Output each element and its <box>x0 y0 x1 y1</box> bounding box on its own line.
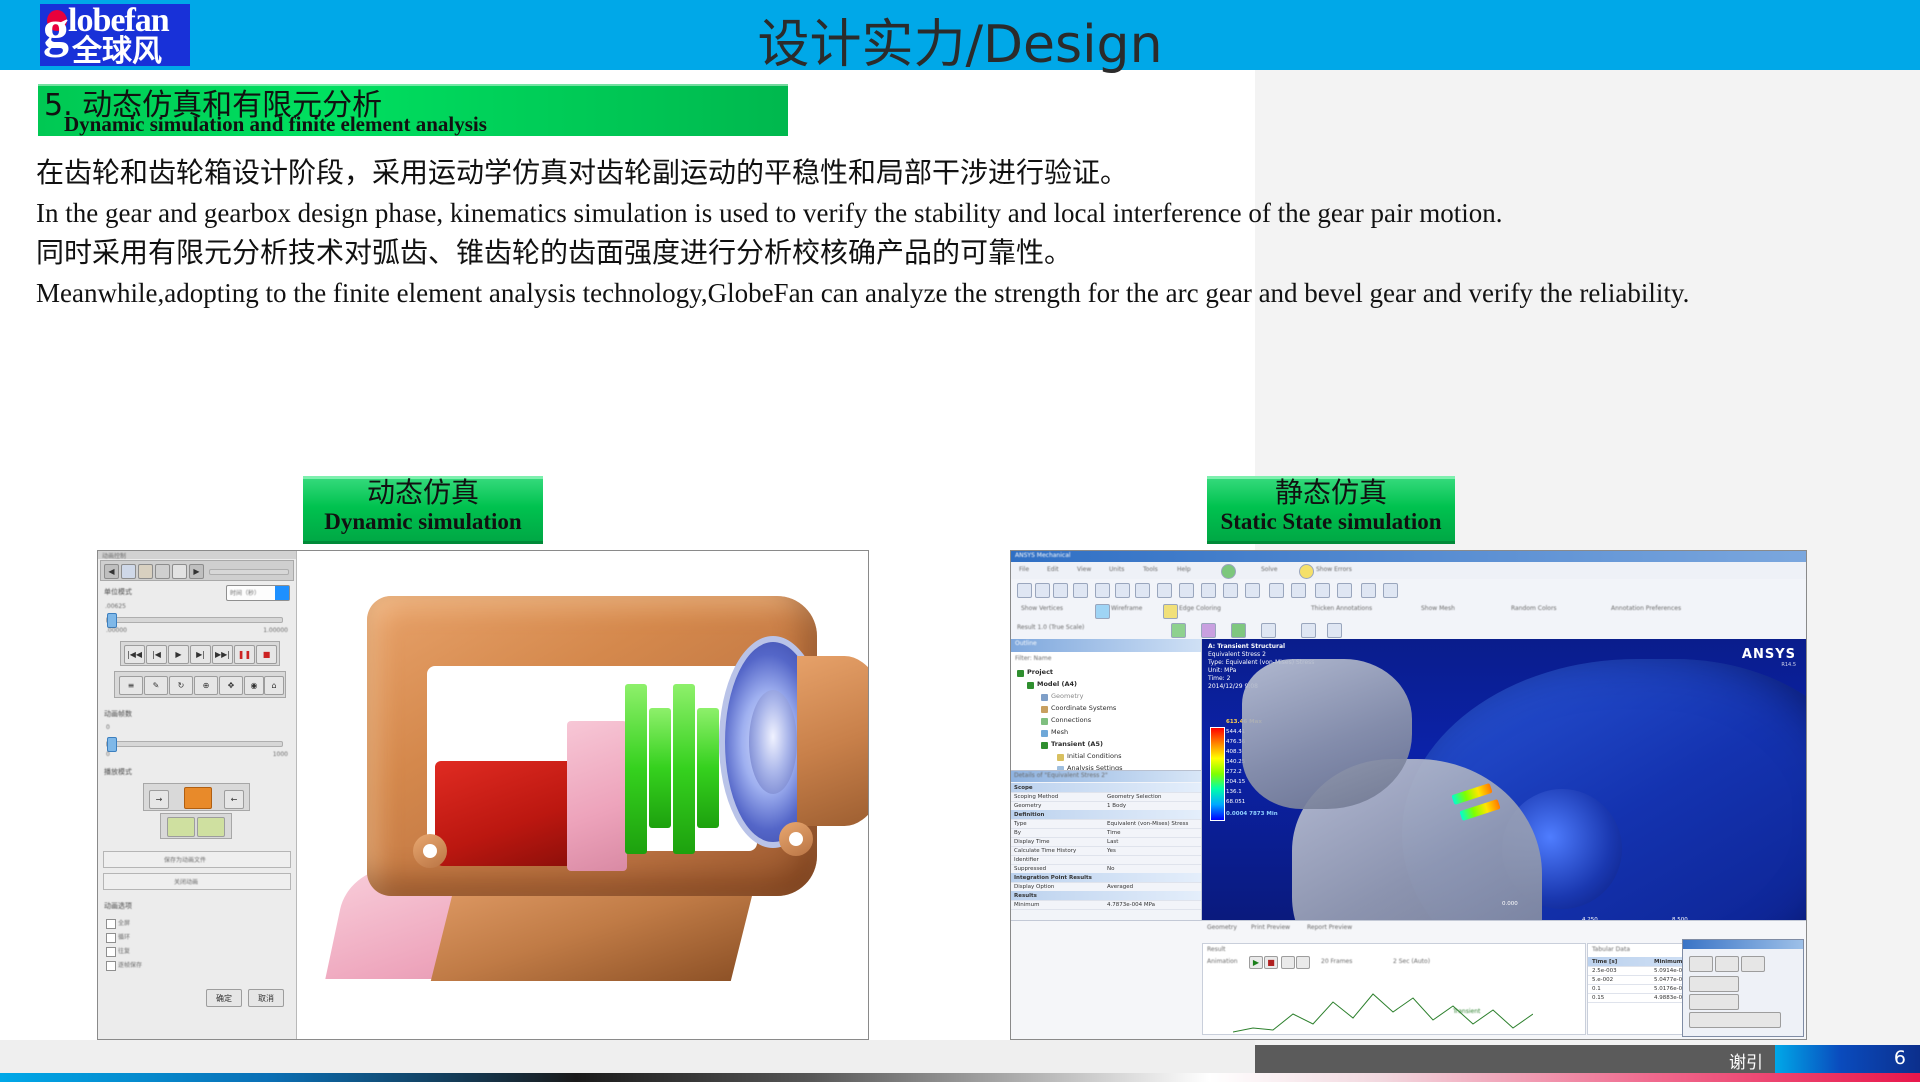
value-max: 1.00000 <box>263 627 288 634</box>
pan-icon[interactable]: ✥ <box>219 676 243 695</box>
pinion-gear <box>1242 659 1412 809</box>
solve-icon[interactable] <box>1221 564 1236 579</box>
toolbar-show-errors-label[interactable]: Show Errors <box>1316 566 1352 573</box>
menu-tools[interactable]: Tools <box>1143 566 1158 573</box>
value-min: .00000 <box>106 627 127 634</box>
legend-value-2: 408.3 <box>1226 749 1242 755</box>
tab-print-preview[interactable]: Print Preview <box>1251 924 1290 931</box>
time-slider-track[interactable] <box>106 617 283 623</box>
bounce-icon[interactable] <box>197 817 225 837</box>
mode-select-value: 时间（秒） <box>230 588 260 597</box>
static-simulation-screenshot: ANSYS Mechanical File Edit View Units To… <box>1010 550 1807 1040</box>
frames-max: 1000 <box>273 751 288 758</box>
save-animation-button[interactable]: 保存为动画文件 <box>103 851 291 868</box>
result-label: Result <box>1207 946 1226 953</box>
details-label-display-option: Display Option <box>1014 884 1054 890</box>
coord-systems-icon <box>1041 706 1048 713</box>
plot-header-0: A: Transient Structural <box>1208 643 1328 651</box>
legend-value-5: 204.15 <box>1226 779 1245 785</box>
caption-left-en: Dynamic simulation <box>303 509 543 535</box>
footer-bar: 谢引 <box>1255 1045 1775 1073</box>
option-label-0: 全屏 <box>118 918 130 927</box>
result-chart-panel[interactable]: Result Animation ▶ ■ 20 Frames 2 Sec (Au… <box>1202 943 1586 1035</box>
ansys-outline-tree[interactable]: Outline Filter: Name Project Model (A4) … <box>1011 639 1202 921</box>
sec-value[interactable]: 2 Sec (Auto) <box>1393 958 1430 965</box>
details-value-suppressed[interactable]: No <box>1107 866 1114 872</box>
wireframe-icon[interactable] <box>1095 604 1110 619</box>
cad-toolbar: ◀ ▶ <box>100 560 294 581</box>
tree-item-1[interactable]: Model (A4) <box>1037 680 1077 688</box>
tree-item-5[interactable]: Mesh <box>1051 728 1068 736</box>
geometry-icon <box>1041 694 1048 701</box>
menu-edit[interactable]: Edit <box>1047 566 1059 573</box>
animation-play-button[interactable]: ▶ <box>1249 956 1263 969</box>
cursor-icon[interactable] <box>121 564 136 579</box>
ok-button[interactable]: 确定 <box>206 989 242 1007</box>
pingpong-icon[interactable] <box>167 817 195 837</box>
list-icon[interactable]: ≡ <box>119 676 143 695</box>
body-line-2-en: In the gear and gearbox design phase, ki… <box>36 194 1896 232</box>
details-value-calc-hist[interactable]: Yes <box>1107 848 1116 854</box>
animation-distribute-button[interactable] <box>1281 956 1295 969</box>
stress-color-legend <box>1210 727 1225 821</box>
close-animation-label: 关闭动画 <box>174 877 198 886</box>
details-group-definition: Definition <box>1014 812 1044 818</box>
frames-current: 0 <box>106 724 110 731</box>
details-label-minimum: Minimum <box>1014 902 1040 908</box>
menu-view[interactable]: View <box>1077 566 1091 573</box>
last-frame-button[interactable]: ▶▶| <box>212 645 233 664</box>
next-frame-button[interactable]: ▶| <box>190 645 211 664</box>
toolbar-solve-label[interactable]: Solve <box>1261 566 1277 573</box>
details-group-results: Results <box>1014 893 1037 899</box>
animation-stop-button[interactable]: ■ <box>1264 956 1278 969</box>
body-text: 在齿轮和齿轮箱设计阶段，采用运动学仿真对齿轮副运动的平稳性和局部干涉进行验证。 … <box>36 152 1896 312</box>
details-value-type[interactable]: Equivalent (von-Mises) Stress <box>1107 821 1188 827</box>
option-checkbox-2[interactable] <box>106 947 116 957</box>
dynamic-simulation-screenshot: 动画控制 ◀ ▶ 单位模式 时间（秒） .00625 .00000 1.0000… <box>97 550 869 1040</box>
mode-label: 单位模式 <box>104 587 132 597</box>
option-label-2: 往复 <box>118 946 130 955</box>
table-r3c0: 0.15 <box>1592 995 1604 1001</box>
fw-field-2[interactable] <box>1689 994 1739 1010</box>
ansys-window-title: ANSYS Mechanical <box>1015 552 1071 559</box>
transient-icon <box>1041 742 1048 749</box>
play-button[interactable]: ▶ <box>168 645 189 664</box>
outline-filter[interactable]: Filter: Name <box>1015 655 1051 662</box>
playmode-buttons: → ← <box>143 783 250 811</box>
table-r2c0: 0.1 <box>1592 986 1601 992</box>
animation-label: Animation <box>1207 958 1238 965</box>
ansys-menubar: File Edit View Units Tools Help Solve Sh… <box>1011 562 1806 580</box>
initial-conditions-icon <box>1057 754 1064 761</box>
fw-field-3[interactable] <box>1689 1012 1781 1028</box>
ansys-titlebar: ANSYS Mechanical <box>1011 551 1806 562</box>
stop-button[interactable]: ■ <box>256 645 277 664</box>
ansys-toolbar-row-2: Show Vertices Wireframe Edge Coloring Th… <box>1011 601 1806 622</box>
section-title-en: Dynamic simulation and finite element an… <box>64 112 487 137</box>
green-gear-4 <box>697 708 719 828</box>
result-scale-label: Result 1.0 (True Scale) <box>1017 624 1084 631</box>
zoom-icon[interactable]: ⊕ <box>194 676 218 695</box>
details-panel: Details of "Equivalent Stress 2" Scope S… <box>1011 770 1201 921</box>
body-line-1-cn: 在齿轮和齿轮箱设计阶段，采用运动学仿真对齿轮副运动的平稳性和局部干涉进行验证。 <box>36 152 1896 194</box>
home-view-icon[interactable]: ⌂ <box>264 676 284 695</box>
tree-item-4[interactable]: Connections <box>1051 716 1091 724</box>
menu-help[interactable]: Help <box>1177 566 1191 573</box>
gear-red-component <box>435 761 575 866</box>
green-gear-2 <box>649 708 671 828</box>
edge-coloring-label[interactable]: Edge Coloring <box>1179 605 1221 612</box>
details-panel-title: Details of "Equivalent Stress 2" <box>1014 772 1108 779</box>
floating-dialog[interactable] <box>1682 939 1804 1037</box>
frames-slider-track[interactable] <box>106 741 283 747</box>
option-checkbox-1[interactable] <box>106 933 116 943</box>
section-title-plate: 5. 动态仿真和有限元分析 Dynamic simulation and fin… <box>38 84 788 136</box>
tab-geometry[interactable]: Geometry <box>1207 924 1237 931</box>
wireframe-label[interactable]: Wireframe <box>1111 605 1142 612</box>
footer-page-box: 6 <box>1775 1045 1920 1073</box>
ansys-toolbar-row-3: Result 1.0 (True Scale) <box>1011 621 1806 640</box>
details-label-suppressed: Suppressed <box>1014 866 1046 872</box>
option-label-1: 循环 <box>118 932 130 941</box>
frames-value[interactable]: 20 Frames <box>1321 958 1352 965</box>
green-gear-3 <box>673 684 695 854</box>
prev-arrow-icon[interactable]: ◀ <box>104 564 119 579</box>
show-errors-icon[interactable] <box>1299 564 1314 579</box>
fw-button-1[interactable] <box>1689 956 1713 972</box>
mount-ear-2 <box>413 834 447 868</box>
details-label-display-time: Display Time <box>1014 839 1049 845</box>
axis-tick-0: 0.000 <box>1502 901 1518 907</box>
plot-header-1: Equivalent Stress 2 <box>1208 651 1328 659</box>
footer-note: 谢引 <box>1729 1048 1763 1073</box>
table-r0c0: 2.5e-003 <box>1592 968 1617 974</box>
menu-units[interactable]: Units <box>1109 566 1124 573</box>
details-label-scoping: Scoping Method <box>1014 794 1058 800</box>
ansys-bottom-region: Geometry Print Preview Report Preview Re… <box>1011 920 1806 1039</box>
toolbar-overflow-bar <box>209 569 289 575</box>
camera-icon[interactable]: ◉ <box>244 676 264 695</box>
details-group-integration: Integration Point Results <box>1014 875 1092 881</box>
fw-field-1[interactable] <box>1689 976 1739 992</box>
gear-pink-component <box>567 721 627 871</box>
floating-dialog-titlebar <box>1683 940 1803 949</box>
fw-button-3[interactable] <box>1741 956 1765 972</box>
close-animation-button[interactable]: 关闭动画 <box>103 873 291 890</box>
legend-value-6: 136.1 <box>1226 789 1242 795</box>
connections-icon <box>1041 718 1048 725</box>
cad-panel-titlebar <box>98 551 296 559</box>
play-backward-icon[interactable]: ← <box>224 790 244 809</box>
model-icon <box>1027 682 1034 689</box>
page-title: 设计实力/Design <box>0 2 1920 77</box>
option-checkbox-3[interactable] <box>106 961 116 971</box>
mode-select[interactable]: 时间（秒） <box>226 585 290 601</box>
transport-buttons: |◀◀ |◀ ▶ ▶| ▶▶| ❚❚ ■ <box>120 641 280 666</box>
details-label-geometry: Geometry <box>1014 803 1041 809</box>
details-label-by: By <box>1014 830 1021 836</box>
save-animation-label: 保存为动画文件 <box>164 855 206 864</box>
details-value-scoping[interactable]: Geometry Selection <box>1107 794 1162 800</box>
cad-3d-viewport[interactable] <box>297 551 868 1039</box>
details-value-display-time[interactable]: Last <box>1107 839 1118 845</box>
animation-settings-button[interactable] <box>1296 956 1310 969</box>
options-label: 动画选项 <box>104 901 132 911</box>
playmode-buttons-2 <box>160 813 232 839</box>
first-frame-button[interactable]: |◀◀ <box>124 645 145 664</box>
legend-min: 0.0004 7873 Min <box>1226 811 1278 817</box>
details-label-identifier: Identifier <box>1014 857 1039 863</box>
home-icon[interactable] <box>155 564 170 579</box>
tree-item-2[interactable]: Geometry <box>1051 692 1083 700</box>
body-line-3-cn: 同时采用有限元分析技术对弧齿、锥齿轮的齿面强度进行分析校核确产品的可靠性。 <box>36 232 1896 274</box>
gearbox-flange <box>797 656 869 826</box>
legend-value-4: 272.2 <box>1226 769 1242 775</box>
caption-right-cn: 静态仿真 <box>1207 477 1455 509</box>
mount-ear-1 <box>779 822 813 856</box>
frames-min: 0 <box>106 751 110 758</box>
tab-report-preview[interactable]: Report Preview <box>1307 924 1352 931</box>
option-label-3: 逐帧保存 <box>118 960 142 969</box>
outline-title: Outline <box>1015 640 1037 647</box>
gearbox-housing <box>367 596 817 896</box>
result-line-chart <box>1233 984 1533 1039</box>
display-label: 播放模式 <box>104 767 132 777</box>
select-icon[interactable] <box>172 564 187 579</box>
body-line-4-en: Meanwhile,adopting to the finite element… <box>36 274 1896 312</box>
animation-control-panel: 动画控制 ◀ ▶ 单位模式 时间（秒） .00625 .00000 1.0000… <box>98 551 297 1039</box>
mesh-icon <box>1041 730 1048 737</box>
edge-coloring-icon[interactable] <box>1163 604 1178 619</box>
legend-value-7: 68.051 <box>1226 799 1245 805</box>
show-mesh-label[interactable]: Show Mesh <box>1421 605 1455 612</box>
project-icon <box>1017 670 1024 677</box>
slide-header: g lobefan 全球风 设计实力/Design <box>0 0 1920 70</box>
tabular-title: Tabular Data <box>1592 946 1630 953</box>
current-value: .00625 <box>105 603 126 610</box>
next-arrow-icon[interactable]: ▶ <box>189 564 204 579</box>
view-tool-buttons: ≡ ✎ ↻ ⊕ ✥ ◉ ⌂ <box>114 671 286 698</box>
blue-spline-core <box>749 690 797 794</box>
details-value-by[interactable]: Time <box>1107 830 1120 836</box>
tree-item-7[interactable]: Initial Conditions <box>1067 752 1121 760</box>
show-vertices-label[interactable]: Show Vertices <box>1021 605 1063 612</box>
ansys-3d-viewport[interactable]: ANSYS R14.5 A: Transient Structural Equi… <box>1202 639 1806 921</box>
rotate-icon[interactable]: ↻ <box>169 676 193 695</box>
annotation-prefs-label[interactable]: Annotation Preferences <box>1611 605 1681 612</box>
chart-annotation: Transient <box>1453 1008 1480 1015</box>
play-forward-icon[interactable]: → <box>149 790 169 809</box>
cancel-button[interactable]: 取消 <box>248 989 284 1007</box>
frames-slider-knob[interactable] <box>107 737 117 752</box>
time-slider-knob[interactable] <box>107 613 117 628</box>
table-header-0: Time [s] <box>1592 959 1617 965</box>
option-checkbox-0[interactable] <box>106 919 116 929</box>
random-colors-label[interactable]: Random Colors <box>1511 605 1557 612</box>
details-label-type: Type <box>1014 821 1027 827</box>
pencil-icon[interactable]: ✎ <box>144 676 168 695</box>
details-value-minimum[interactable]: 4.7873e-004 MPa <box>1107 902 1155 908</box>
loop-icon[interactable] <box>184 787 212 809</box>
ansys-logo: ANSYS R14.5 <box>1742 647 1796 668</box>
caption-right-en: Static State simulation <box>1207 509 1455 535</box>
details-value-geometry[interactable]: 1 Body <box>1107 803 1126 809</box>
caption-plate-static: 静态仿真 Static State simulation <box>1207 476 1455 544</box>
table-r1c0: 5.e-002 <box>1592 977 1613 983</box>
pause-button[interactable]: ❚❚ <box>234 645 255 664</box>
green-gear-1 <box>625 684 647 854</box>
details-value-display-option[interactable]: Averaged <box>1107 884 1133 890</box>
fw-button-2[interactable] <box>1715 956 1739 972</box>
footer-left-blank <box>0 1040 1255 1073</box>
prev-frame-button[interactable]: |◀ <box>146 645 167 664</box>
cad-panel-title: 动画控制 <box>102 551 126 560</box>
chevron-down-icon[interactable] <box>275 586 289 600</box>
footer-gradient-strip <box>0 1073 1920 1082</box>
tree-item-0[interactable]: Project <box>1027 668 1053 676</box>
page-number: 6 <box>1894 1047 1906 1069</box>
frames-label: 动画帧数 <box>104 709 132 719</box>
outline-header <box>1011 639 1201 652</box>
caption-left-cn: 动态仿真 <box>303 477 543 509</box>
tree-item-6[interactable]: Transient (A5) <box>1051 740 1103 748</box>
caption-plate-dynamic: 动态仿真 Dynamic simulation <box>303 476 543 544</box>
details-group-scope: Scope <box>1014 785 1033 791</box>
details-label-calc-hist: Calculate Time History <box>1014 848 1076 854</box>
gearbox-section-cut <box>427 666 757 851</box>
hand-icon[interactable] <box>138 564 153 579</box>
thicken-annotations-label[interactable]: Thicken Annotations <box>1311 605 1372 612</box>
ansys-toolbar-row-1 <box>1011 579 1806 602</box>
menu-file[interactable]: File <box>1019 566 1029 573</box>
tree-item-3[interactable]: Coordinate Systems <box>1051 704 1116 712</box>
